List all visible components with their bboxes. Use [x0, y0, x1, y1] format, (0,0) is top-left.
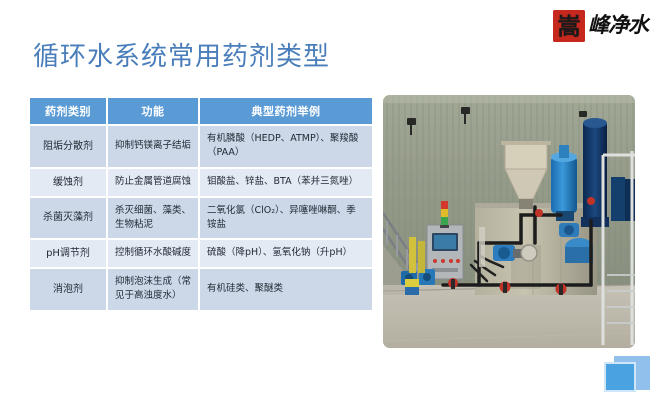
cell-category: pH调节剂 — [30, 240, 108, 267]
company-logo: 嵩 峰净水 — [553, 8, 648, 44]
table-row: pH调节剂 控制循环水酸碱度 硫酸（降pH）、氢氧化钠（升pH） — [30, 240, 372, 267]
decoration-square-front — [604, 362, 636, 392]
logo-wordmark: 峰净水 — [588, 14, 648, 38]
cell-examples: 有机膦酸（HEDP、ATMP）、聚羧酸（PAA） — [200, 126, 372, 167]
cell-examples: 有机硅类、聚醚类 — [200, 269, 372, 310]
table-row: 阻垢分散剂 抑制钙镁离子结垢 有机膦酸（HEDP、ATMP）、聚羧酸（PAA） — [30, 126, 372, 167]
equipment-photo — [383, 95, 635, 348]
cell-function: 防止金属管道腐蚀 — [108, 169, 200, 196]
table-row: 缓蚀剂 防止金属管道腐蚀 钼酸盐、锌盐、BTA（苯并三氮唑） — [30, 169, 372, 196]
column-header-examples: 典型药剂举例 — [200, 98, 372, 124]
cell-function: 控制循环水酸碱度 — [108, 240, 200, 267]
equipment-photo-illustration — [383, 95, 635, 348]
page-title: 循环水系统常用药剂类型 — [33, 36, 330, 73]
chemical-table: 药剂类别 功能 典型药剂举例 阻垢分散剂 抑制钙镁离子结垢 有机膦酸（HEDP、… — [30, 96, 372, 312]
column-header-function: 功能 — [108, 98, 200, 124]
chemical-table-container: 药剂类别 功能 典型药剂举例 阻垢分散剂 抑制钙镁离子结垢 有机膦酸（HEDP、… — [30, 96, 372, 312]
cell-examples: 二氧化氯（ClO₂）、异噻唑啉酮、季铵盐 — [200, 198, 372, 239]
seal-icon: 嵩 — [553, 10, 585, 42]
table-row: 杀菌灭藻剂 杀灭细菌、藻类、生物粘泥 二氧化氯（ClO₂）、异噻唑啉酮、季铵盐 — [30, 198, 372, 239]
table-header-row: 药剂类别 功能 典型药剂举例 — [30, 98, 372, 124]
table-row: 消泡剂 抑制泡沫生成（常见于高浊度水） 有机硅类、聚醚类 — [30, 269, 372, 310]
cell-examples: 硫酸（降pH）、氢氧化钠（升pH） — [200, 240, 372, 267]
cell-category: 消泡剂 — [30, 269, 108, 310]
cell-category: 阻垢分散剂 — [30, 126, 108, 167]
cell-function: 抑制钙镁离子结垢 — [108, 126, 200, 167]
cell-category: 杀菌灭藻剂 — [30, 198, 108, 239]
cell-examples: 钼酸盐、锌盐、BTA（苯并三氮唑） — [200, 169, 372, 196]
slide-canvas: 嵩 峰净水 循环水系统常用药剂类型 药剂类别 功能 典型药剂举例 阻垢分散剂 抑… — [0, 0, 660, 400]
cell-category: 缓蚀剂 — [30, 169, 108, 196]
cell-function: 杀灭细菌、藻类、生物粘泥 — [108, 198, 200, 239]
column-header-category: 药剂类别 — [30, 98, 108, 124]
cell-function: 抑制泡沫生成（常见于高浊度水） — [108, 269, 200, 310]
corner-decoration — [600, 352, 654, 396]
